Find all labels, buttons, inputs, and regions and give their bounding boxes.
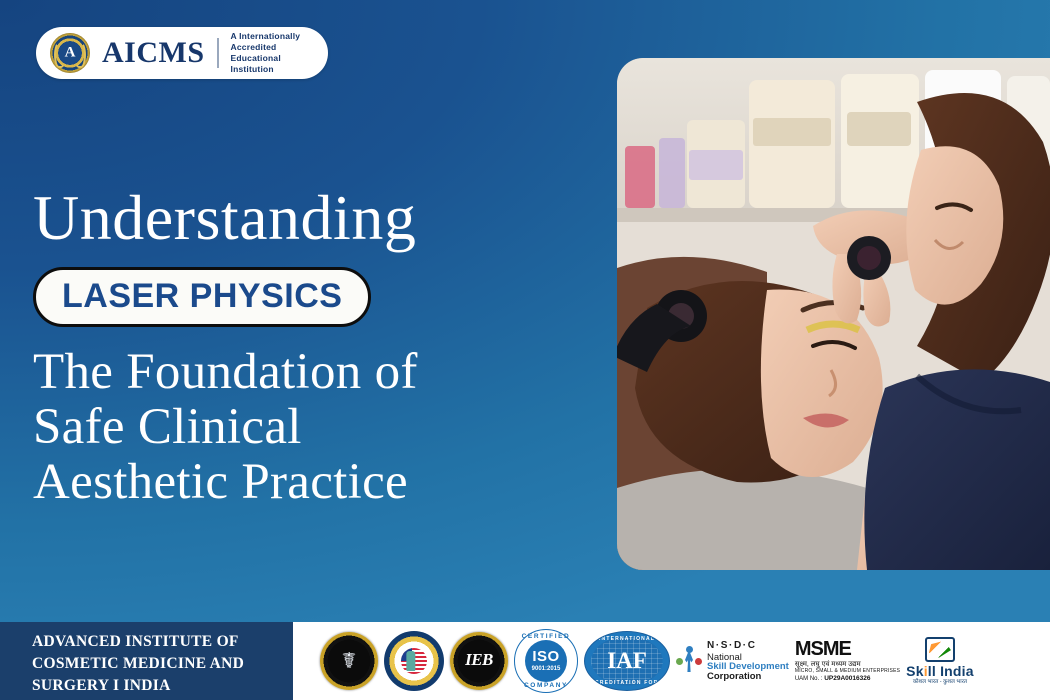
laser-physics-badge: LASER PHYSICS <box>33 267 371 327</box>
msme-uam-label: UAM No. : <box>795 676 823 682</box>
caduceus-seal-icon: ☤ <box>320 632 378 690</box>
msme-wordmark: MSME <box>795 639 900 659</box>
skill-india-name: Skill India <box>906 664 974 678</box>
institution-name: ADVANCED INSTITUTE OF COSMETIC MEDICINE … <box>32 631 282 697</box>
nsdc-figure-body <box>685 652 693 672</box>
caduceus-icon: ☤ <box>342 650 357 672</box>
iso-standard: 9001:2015 <box>532 665 561 673</box>
iaf-label: IAF <box>585 648 669 674</box>
nsdc-figure-green-dot <box>676 658 683 665</box>
brand-wordmark: AICMS <box>102 38 205 68</box>
logo-divider <box>217 38 219 68</box>
iaf-arc-bottom: ACCREDITATION FORUM <box>585 680 669 686</box>
ieb-seal-icon: IEB <box>450 632 508 690</box>
aicms-seal-icon: A <box>50 33 90 73</box>
nsdc-figure-icon <box>676 644 702 678</box>
nsdc-initials: N·S·D·C <box>707 641 789 651</box>
badge-msme: MSME सूक्ष्म, लघु एवं मध्यम उद्यम MICRO,… <box>795 639 900 683</box>
brand-tagline: A Internationally Accredited Educational… <box>231 31 314 75</box>
headline-line-2: The Foundation of <box>33 345 573 400</box>
skill-india-name-part3: ll India <box>928 663 974 679</box>
nsdc-line-3: Corporation <box>707 672 789 682</box>
headline-block: Understanding LASER PHYSICS The Foundati… <box>33 183 573 510</box>
msme-english: MICRO, SMALL & MEDIUM ENTERPRISES <box>795 669 900 674</box>
headline-subtitle: The Foundation of Safe Clinical Aestheti… <box>33 345 573 510</box>
brand-tagline-line1: A Internationally Accredited <box>231 31 314 53</box>
hero-photo-illustration <box>617 58 1050 570</box>
skill-india-name-part1: Sk <box>906 663 924 679</box>
seal-letter: A <box>50 45 90 62</box>
iso-arc-bottom: COMPANY <box>515 682 577 689</box>
iso-arc-top: CERTIFIED <box>515 633 577 640</box>
headline-line-3: Safe Clinical <box>33 400 573 455</box>
badge-ieb-seal: IEB <box>450 632 508 690</box>
badge-aesthetic-medicine-seal: ☤ <box>320 632 378 690</box>
iso-disc: ISO 9001:2015 <box>525 640 567 682</box>
statue-of-liberty-icon <box>406 651 415 671</box>
iso-certified-icon: CERTIFIED ISO 9001:2015 COMPANY <box>514 629 578 693</box>
skill-india-emblem <box>929 641 951 658</box>
msme-uam: UAM No. : UP29A0016326 <box>795 676 900 683</box>
nsdc-figure-red-dot <box>695 658 702 665</box>
nsdc-logo: N·S·D·C National Skill Development Corpo… <box>676 641 789 682</box>
skill-india-hindi: कौशल भारत - कुशल भारत <box>906 680 974 686</box>
nsdc-text: N·S·D·C National Skill Development Corpo… <box>707 641 789 682</box>
skill-india-monitor-icon <box>925 637 955 662</box>
msme-hindi: सूक्ष्म, लघु एवं मध्यम उद्यम <box>795 661 900 668</box>
headline-line-1: Understanding <box>33 183 573 253</box>
badge-skill-india: Skill India कौशल भारत - कुशल भारत <box>906 637 974 686</box>
msme-uam-value: UP29A0016326 <box>824 675 870 682</box>
ieb-label: IEB <box>450 650 508 670</box>
institution-line-3: SURGERY I INDIA <box>32 675 282 697</box>
badge-nsdc: N·S·D·C National Skill Development Corpo… <box>676 641 789 682</box>
badge-american-council-seal <box>384 631 444 691</box>
msme-logo: MSME सूक्ष्म, लघु एवं मध्यम उद्यम MICRO,… <box>795 639 900 683</box>
headline-line-4: Aesthetic Practice <box>33 455 573 510</box>
brand-logo[interactable]: A AICMS A Internationally Accredited Edu… <box>36 27 328 79</box>
slide-canvas: A AICMS A Internationally Accredited Edu… <box>0 0 1050 700</box>
iaf-arc-top: INTERNATIONAL <box>585 636 669 642</box>
footer-bar: ADVANCED INSTITUTE OF COSMETIC MEDICINE … <box>0 622 1050 700</box>
hero-photo <box>617 58 1050 570</box>
iso-label: ISO <box>532 649 559 664</box>
american-council-seal-icon <box>384 631 444 691</box>
badge-iaf: INTERNATIONAL IAF ACCREDITATION FORUM <box>584 631 670 691</box>
footer-institution-block: ADVANCED INSTITUTE OF COSMETIC MEDICINE … <box>0 622 293 700</box>
institution-line-2: COSMETIC MEDICINE AND <box>32 653 282 675</box>
skill-india-logo: Skill India कौशल भारत - कुशल भारत <box>906 637 974 686</box>
brand-tagline-line2: Educational Institution <box>231 53 314 75</box>
iaf-icon: INTERNATIONAL IAF ACCREDITATION FORUM <box>584 631 670 691</box>
laser-physics-badge-label: LASER PHYSICS <box>62 279 342 313</box>
nsdc-figure-head <box>686 646 693 653</box>
badge-iso-certified: CERTIFIED ISO 9001:2015 COMPANY <box>514 629 578 693</box>
institution-line-1: ADVANCED INSTITUTE OF <box>32 631 282 653</box>
accreditation-badges: ☤ IEB CERTIFIED ISO 9001 <box>300 622 1050 700</box>
